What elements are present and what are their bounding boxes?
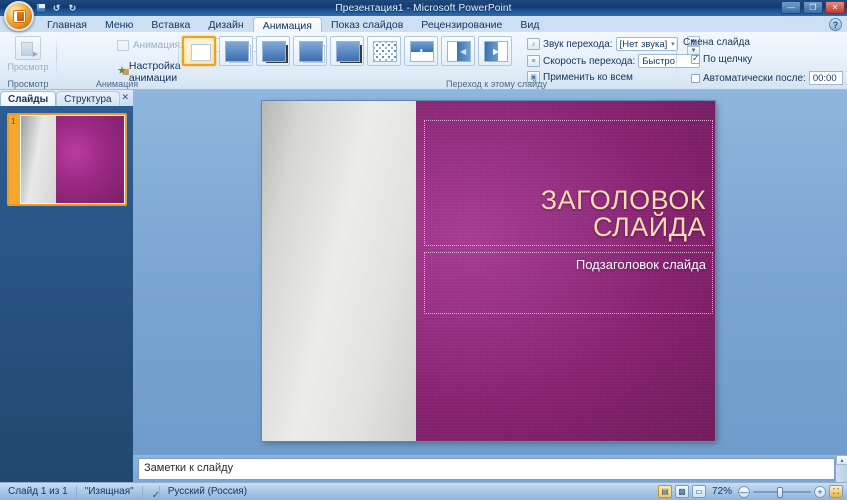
auto-after-label: Автоматически после: [703,73,806,84]
tab-view[interactable]: Вид [511,17,548,33]
slide-title-text: ЗАГОЛОВОК СЛАЙДА [541,187,706,241]
auto-after-checkbox[interactable] [691,74,700,83]
slide-number: 1 [11,117,15,126]
language-indicator[interactable]: Русский (Россия) [160,486,255,497]
tab-review[interactable]: Рецензирование [412,17,511,33]
preview-group-label: Просмотр [0,79,56,89]
slide-edit-area: ЗАГОЛОВОК СЛАЙДА Подзаголовок слайда [133,90,847,455]
ribbon-tab-strip: Главная Меню Вставка Дизайн Анимация Пок… [0,16,847,33]
transition-no-transition[interactable] [182,36,216,66]
slide-counter[interactable]: Слайд 1 из 1 [0,486,76,497]
preview-button-label: Просмотр [7,62,48,72]
auto-after-input[interactable]: 00:00 [809,71,843,85]
help-icon[interactable]: ? [829,18,842,31]
redo-icon[interactable]: ↻ [66,2,79,15]
on-click-checkbox[interactable] [691,55,700,64]
advance-slide-label: Смена слайда [683,37,750,48]
zoom-slider-handle[interactable] [777,487,783,498]
advance-auto-row[interactable]: Автоматически после: 00:00 ▴▾ [691,71,847,85]
save-icon[interactable] [34,2,47,15]
transition-speed-row: ≡ Скорость перехода: Быстро [527,54,700,68]
title-bar: Презентация1 - Microsoft PowerPoint ↺ ↻ … [0,0,847,16]
divider [142,486,143,498]
ribbon-group-preview: Просмотр Просмотр [0,32,56,90]
preview-button[interactable]: Просмотр [6,36,50,73]
ribbon: Просмотр Просмотр Анимация: ▾ Настройка … [0,32,847,90]
advance-heading: Смена слайда [683,37,750,48]
transition-gallery [182,36,512,66]
slide-subtitle-text: Подзаголовок слайда [576,257,706,272]
transition-sound-row: ♪ Звук перехода: [Нет звука] [527,37,678,51]
animation-icon [117,40,129,51]
slides-pane-tabs: Слайды Структура ✕ [0,90,133,106]
slide-thumbnail-preview [20,115,125,204]
fit-to-window-button[interactable]: ⛶ [829,485,843,498]
subtitle-placeholder[interactable]: Подзаголовок слайда [424,252,713,314]
slide-purple-panel: ЗАГОЛОВОК СЛАЙДА Подзаголовок слайда [416,101,715,441]
undo-icon[interactable]: ↺ [50,2,63,15]
theme-name[interactable]: "Изящная" [77,486,142,497]
transition-speed-label: Скорость перехода: [543,56,635,67]
quick-access-toolbar: ↺ ↻ [34,1,79,15]
notes-scrollbar[interactable]: ▴ [835,455,847,482]
slides-pane-close-icon[interactable]: ✕ [121,92,129,103]
custom-animation-icon [117,66,125,79]
notes-input[interactable]: Заметки к слайду [138,458,835,480]
preview-icon [15,36,41,60]
thumb-gray-panel [21,116,56,203]
tab-home[interactable]: Главная [38,17,96,33]
transition-sound-select[interactable]: [Нет звука] [616,37,678,51]
view-slideshow-button[interactable]: ▭ [692,485,706,498]
ribbon-group-animation: Анимация: ▾ Настройка анимации Анимация [57,32,177,90]
thumb-purple-panel [56,116,124,203]
animation-group-label: Анимация [57,79,177,89]
slide-thumbnail-1[interactable]: 1 [7,113,127,206]
status-bar-right: ▤ ▩ ▭ 72% — + ⛶ [658,485,847,498]
tab-animation[interactable]: Анимация [253,17,322,33]
powerpoint-window: Презентация1 - Microsoft PowerPoint ↺ ↻ … [0,0,847,500]
slide-gray-panel [262,101,416,441]
slides-pane-body: 1 [0,106,133,482]
notes-scroll-up[interactable]: ▴ [836,455,847,465]
zoom-level[interactable]: 72% [709,486,735,497]
ribbon-group-advance: Смена слайда По щелчку Автоматически пос… [677,32,847,90]
close-button[interactable]: ✕ [825,1,845,14]
transition-cut-black[interactable] [330,36,364,66]
window-title: Презентация1 - Microsoft PowerPoint [0,3,847,14]
zoom-in-button[interactable]: + [814,486,826,498]
transition-sound-label: Звук перехода: [543,39,613,50]
advance-on-click-row[interactable]: По щелчку [691,54,752,65]
speed-icon: ≡ [527,55,540,67]
notes-pane: Заметки к слайду ▴ [133,455,847,482]
title-placeholder[interactable]: ЗАГОЛОВОК СЛАЙДА [424,120,713,246]
tab-design[interactable]: Дизайн [199,17,252,33]
tab-menu[interactable]: Меню [96,17,142,33]
transition-cut-white[interactable] [293,36,327,66]
zoom-out-button[interactable]: — [738,486,750,498]
ribbon-group-transition: ▲ ▼ ▿ ♪ Звук перехода: [Нет звука] ≡ Ско… [179,32,574,90]
sound-icon: ♪ [527,38,540,50]
minimize-button[interactable]: — [781,1,801,14]
transition-dissolve[interactable] [367,36,401,66]
tab-slideshow[interactable]: Показ слайдов [322,17,412,33]
view-slide-sorter-button[interactable]: ▩ [675,485,689,498]
transition-blinds-fade[interactable] [219,36,253,66]
office-button[interactable] [4,1,34,31]
slides-pane: Слайды Структура ✕ 1 [0,90,133,482]
transition-wipe-right[interactable] [478,36,512,66]
status-bar: Слайд 1 из 1 "Изящная" Русский (Россия) … [0,482,847,500]
on-click-label: По щелчку [703,54,752,65]
slide-canvas[interactable]: ЗАГОЛОВОК СЛАЙДА Подзаголовок слайда [262,101,715,441]
tab-outline[interactable]: Структура [56,91,119,106]
transition-fade-black[interactable] [256,36,290,66]
transition-wipe-left[interactable] [441,36,475,66]
transition-group-label: Переход к этому слайду [419,79,574,89]
view-normal-button[interactable]: ▤ [658,485,672,498]
transition-wipe-down[interactable] [404,36,438,66]
zoom-slider[interactable] [753,486,811,498]
window-controls: — ❐ ✕ [781,1,845,14]
restore-button[interactable]: ❐ [803,1,823,14]
tab-slides[interactable]: Слайды [0,91,56,106]
tab-insert[interactable]: Вставка [142,17,199,33]
animation-label: Анимация: [133,40,183,51]
